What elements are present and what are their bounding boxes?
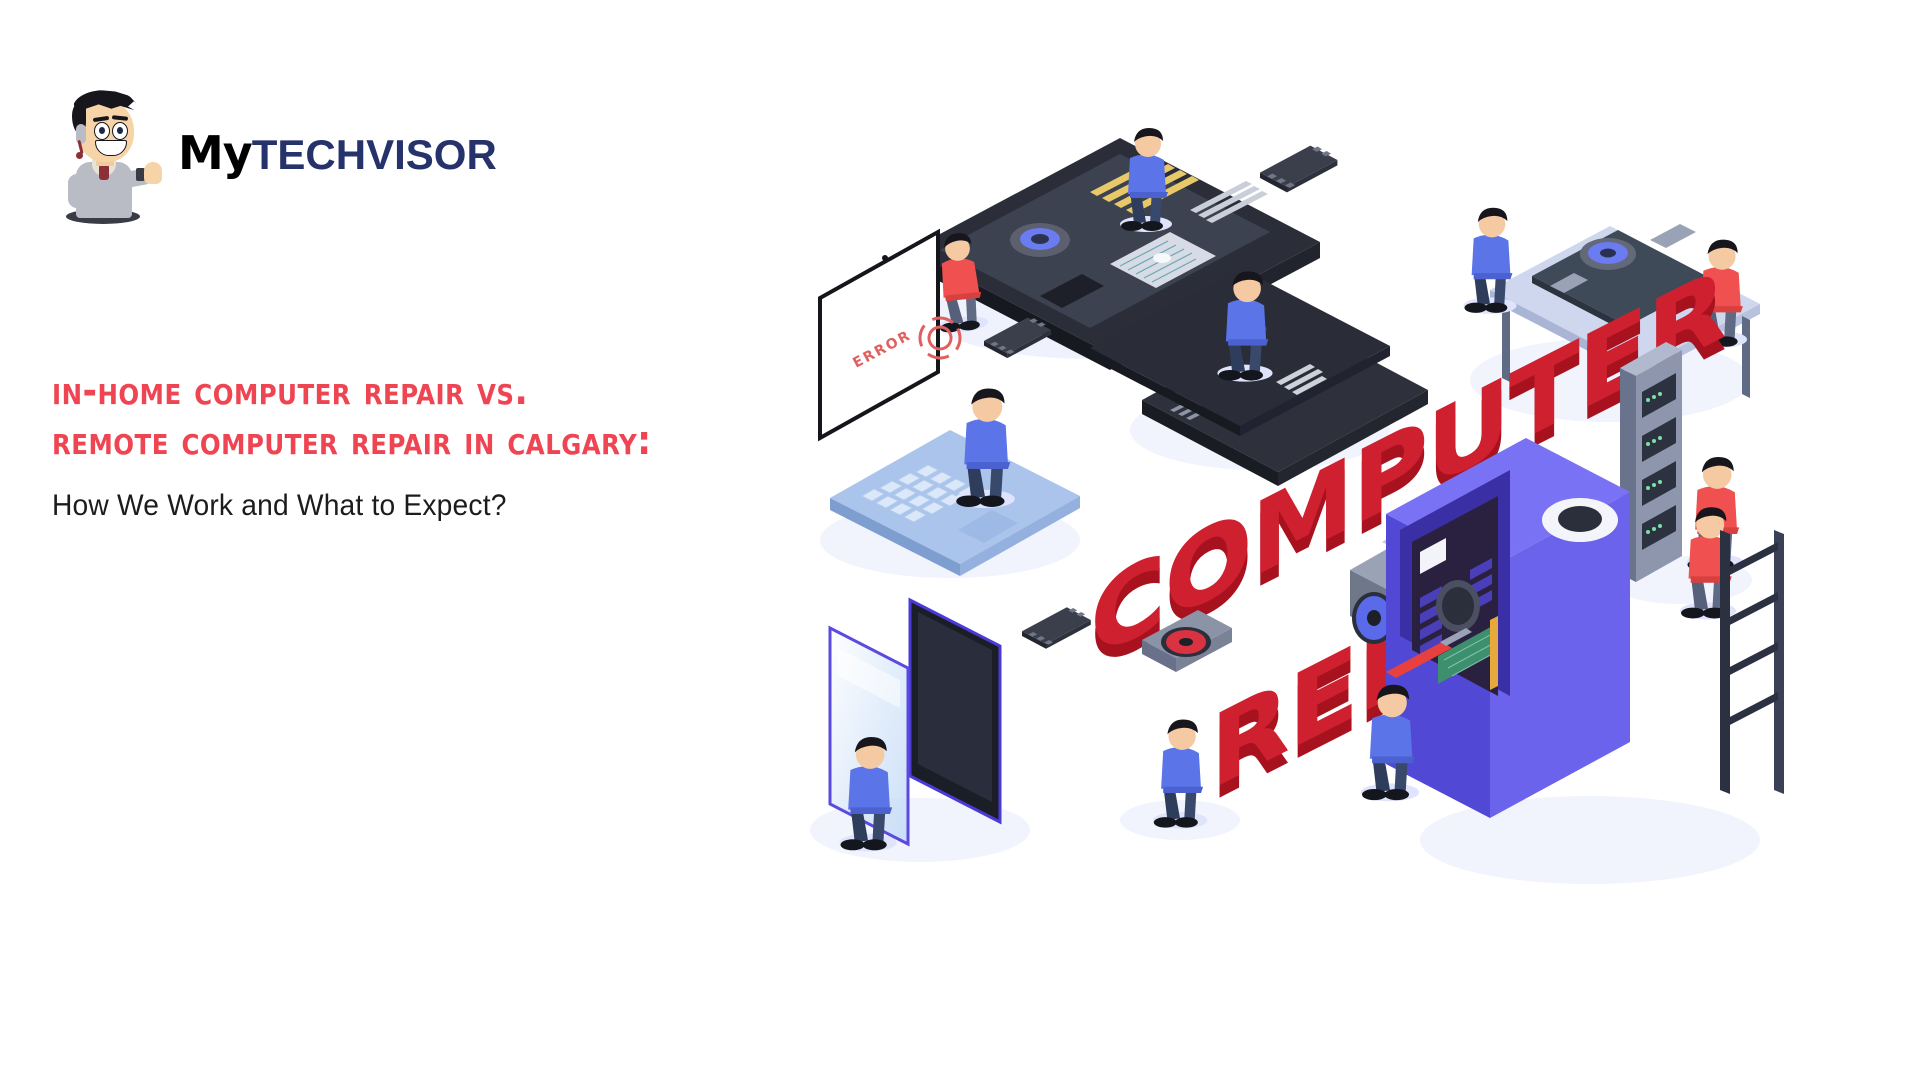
page-subtitle: How We Work and What to Expect? <box>52 489 804 523</box>
mascot-tie <box>99 164 109 180</box>
headline-line-2: Remote Computer Repair in Calgary: <box>52 416 828 466</box>
memory-chip-3 <box>1022 607 1091 649</box>
hero-copy: In-Home Computer Repair vs. Remote Compu… <box>52 366 852 523</box>
logo-text-my: My <box>178 126 252 180</box>
mascot-left-arm <box>68 174 86 208</box>
headline-line-1: In-Home Computer Repair vs. <box>52 366 828 416</box>
logo-text-techvisor: TECHVISOR <box>252 131 497 179</box>
page-title: In-Home Computer Repair vs. Remote Compu… <box>52 366 828 467</box>
hero-banner: My TECHVISOR In-Home Computer Repair vs.… <box>0 0 1920 1080</box>
mascot-right-pupil <box>117 127 123 134</box>
screen-protector-group <box>810 600 1030 862</box>
mic-tip <box>76 152 83 159</box>
support-agent-mascot-icon <box>52 78 162 228</box>
thumbs-up-icon <box>144 162 162 184</box>
memory-chip-1 <box>1260 146 1337 193</box>
logo-wordmark: My TECHVISOR <box>178 126 497 180</box>
isometric-computer-repair-illustration: ERROR COMPUTER COMPUTER REPAIR REPAIR <box>790 100 1890 900</box>
mascot-left-pupil <box>99 127 105 134</box>
site-logo[interactable]: My TECHVISOR <box>52 78 497 228</box>
